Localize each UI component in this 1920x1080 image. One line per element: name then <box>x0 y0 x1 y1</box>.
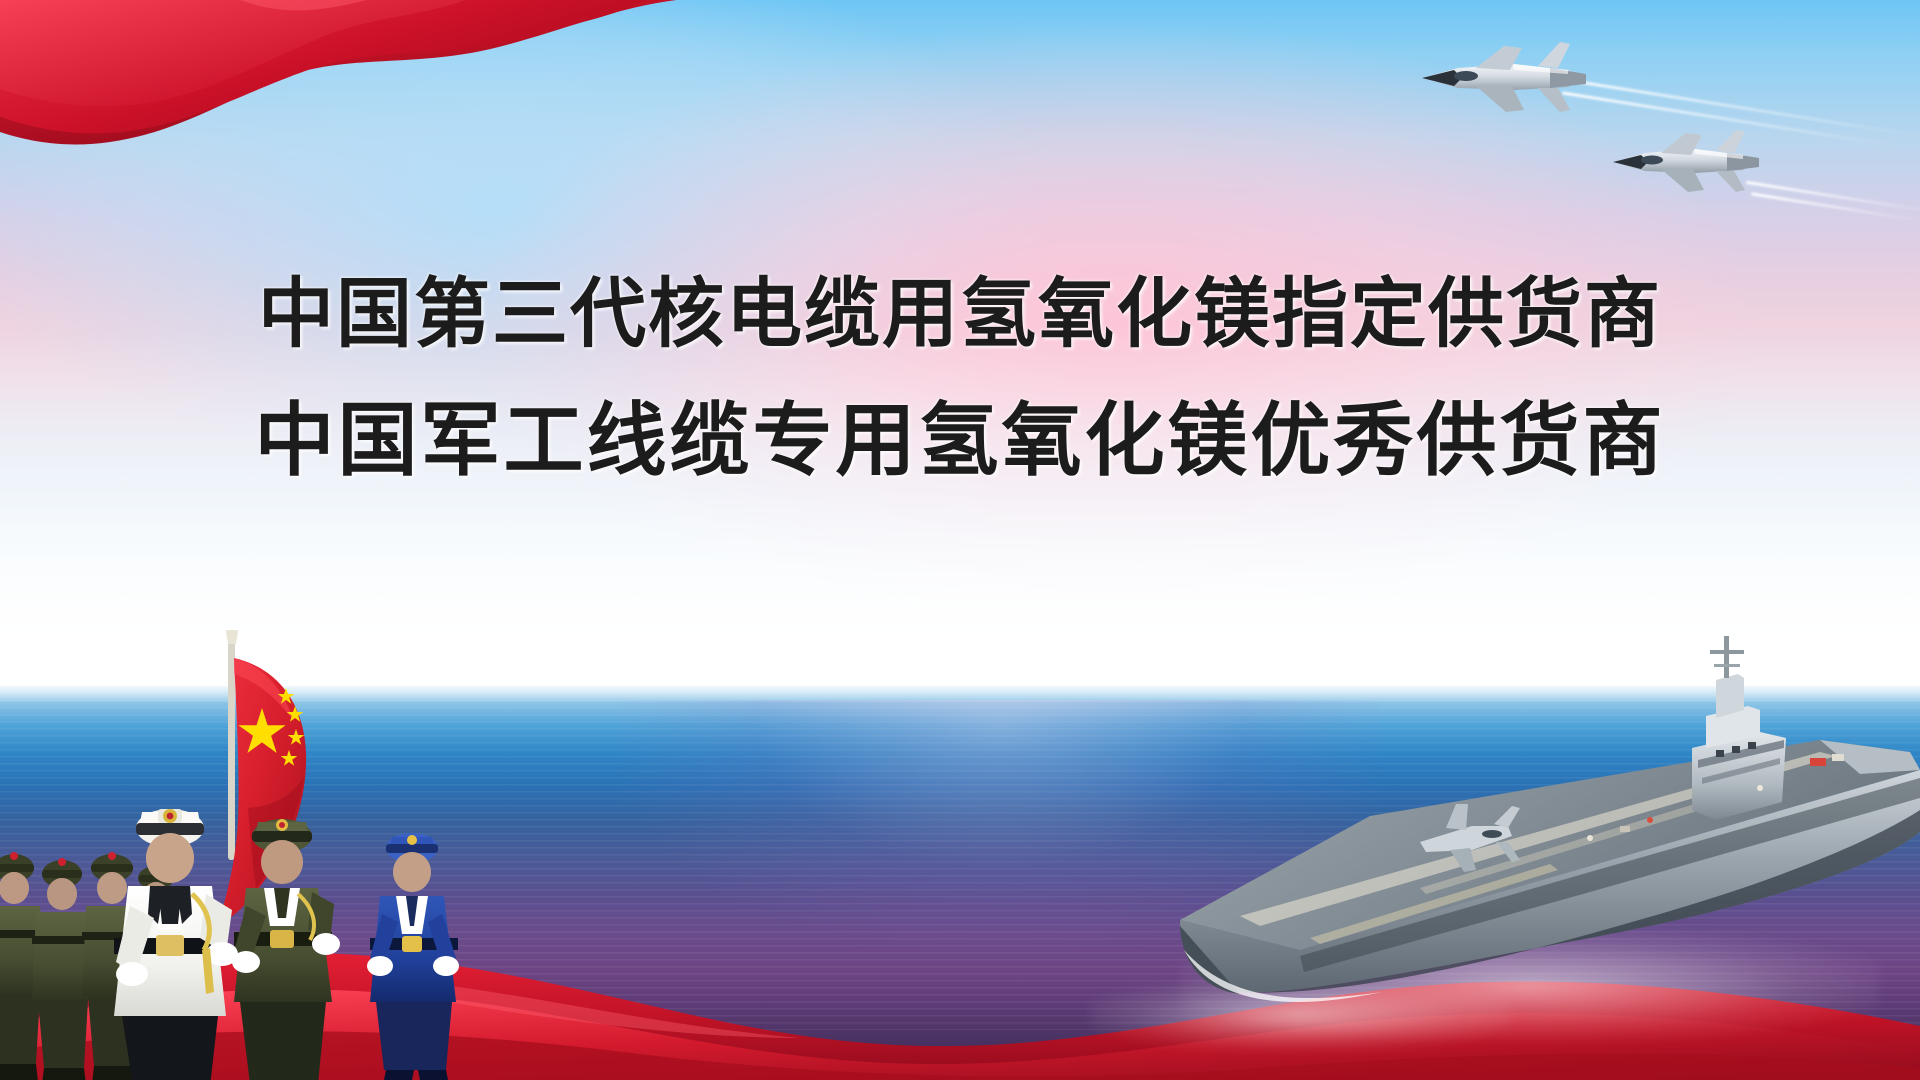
fighter-jet <box>1610 128 1760 208</box>
headline-line-1: 中国第三代核电缆用氢氧化镁指定供货商 <box>0 252 1920 378</box>
honor-guard-formation <box>0 630 506 1080</box>
headline-line-2: 中国军工线缆专用氢氧化镁优秀供货商 <box>0 378 1920 504</box>
banner-headline: 中国第三代核电缆用氢氧化镁指定供货商 中国军工线缆专用氢氧化镁优秀供货商 <box>0 252 1920 504</box>
red-silk-flag-top <box>0 0 710 222</box>
fighter-jet <box>1418 40 1588 130</box>
aircraft-carrier <box>1120 620 1920 1040</box>
promotional-banner: 中国第三代核电缆用氢氧化镁指定供货商 中国军工线缆专用氢氧化镁优秀供货商 <box>0 0 1920 1080</box>
